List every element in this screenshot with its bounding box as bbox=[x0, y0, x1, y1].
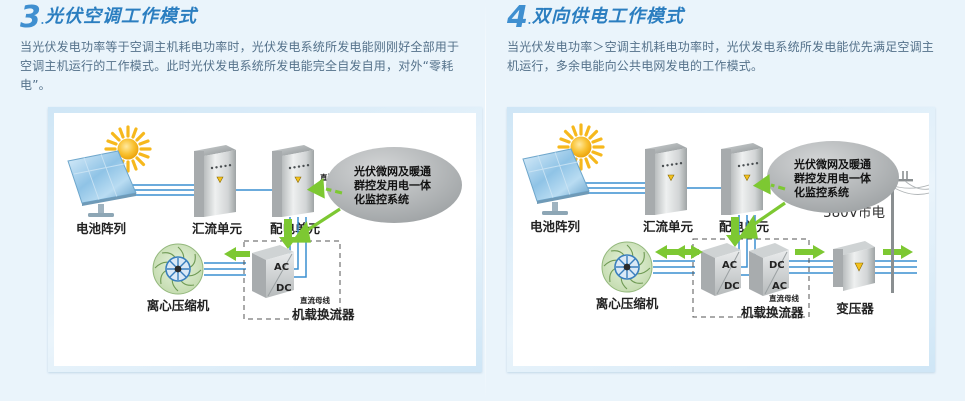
section-4-figure-canvas: 电池阵列 汇流单元 bbox=[513, 113, 929, 366]
label-distribution-unit: 配电单元 bbox=[270, 221, 321, 236]
compressor-fan-icon bbox=[153, 244, 203, 294]
section-3-figure-canvas: 电池阵列 汇流单元 bbox=[54, 113, 476, 366]
converter-label-dc: DC bbox=[276, 283, 292, 294]
inverter-label-dc: DC bbox=[769, 260, 785, 271]
label-pv-array: 电池阵列 bbox=[76, 221, 126, 236]
converter-label-dc: DC bbox=[724, 281, 740, 292]
section-4-title: 双向供电工作模式 bbox=[532, 2, 684, 28]
inverter-label-ac: AC bbox=[772, 281, 787, 292]
transformer-icon bbox=[833, 241, 875, 291]
compressor-fan-icon bbox=[602, 242, 652, 292]
label-compressor: 离心压缩机 bbox=[147, 298, 210, 313]
bus-pv-to-combiner bbox=[132, 185, 194, 195]
label-pv-array: 电池阵列 bbox=[530, 219, 580, 234]
bubble-line-1: 光伏微网及暖通 bbox=[353, 164, 431, 178]
section-3-number: 3 bbox=[20, 2, 40, 34]
label-converter: 机载换流器 bbox=[292, 307, 355, 322]
bubble-line-3: 化监控系统 bbox=[794, 185, 849, 199]
section-4-diagram: 电池阵列 汇流单元 bbox=[513, 113, 929, 366]
section-3-diagram: 电池阵列 汇流单元 bbox=[54, 113, 476, 366]
bus-pv-to-combiner bbox=[585, 183, 645, 193]
label-combiner-unit: 汇流单元 bbox=[643, 219, 694, 234]
cabinet-icon-combiner bbox=[645, 143, 687, 215]
column-divider bbox=[485, 0, 486, 401]
bubble-line-2: 群控发用电一体 bbox=[353, 178, 432, 192]
section-3: 3.光伏空调工作模式 当光伏发电功率等于空调主机耗电功率时，光伏发电系统所发电能… bbox=[10, 0, 480, 401]
section-3-figure-panel: 电池阵列 汇流单元 bbox=[48, 107, 482, 372]
page-root: 3.光伏空调工作模式 当光伏发电功率等于空调主机耗电功率时，光伏发电系统所发电能… bbox=[0, 0, 965, 401]
label-converter: 机载换流器 bbox=[741, 305, 804, 320]
cabinet-icon-combiner bbox=[194, 145, 236, 217]
section-4-heading: 4.双向供电工作模式 bbox=[497, 0, 955, 34]
cabinet-icon-distribution bbox=[721, 143, 763, 215]
arrow-icon-to-grid bbox=[883, 245, 913, 259]
solar-panel-icon bbox=[523, 149, 589, 215]
section-3-description: 当光伏发电功率等于空调主机耗电功率时，光伏发电系统所发电能刚刚好全部用于空调主机… bbox=[10, 34, 480, 95]
bubble-line-3: 化监控系统 bbox=[354, 192, 409, 206]
label-compressor: 离心压缩机 bbox=[596, 296, 659, 311]
label-combiner-unit: 汇流单元 bbox=[192, 221, 243, 236]
converter-label-ac: AC bbox=[274, 262, 289, 273]
label-transformer: 变压器 bbox=[836, 301, 874, 316]
bus-converter-to-compressor bbox=[653, 261, 695, 273]
bus-converter-to-compressor bbox=[204, 263, 246, 275]
arrow-icon-converter-to-inverter bbox=[795, 245, 825, 259]
section-4-description: 当光伏发电功率＞空调主机耗电功率时，光伏发电系统所发电能优先满足空调主机运行，多… bbox=[497, 34, 955, 76]
arrow-icon-bidirectional-converter bbox=[655, 245, 703, 259]
solar-panel-icon bbox=[68, 151, 136, 217]
label-dc-bus-bottom: 直流母线 bbox=[300, 295, 330, 305]
section-4-number: 4 bbox=[507, 2, 527, 34]
section-4-figure-panel: 电池阵列 汇流单元 bbox=[507, 107, 935, 372]
label-dc-bus-bottom: 直流母线 bbox=[769, 293, 799, 303]
section-4: 4.双向供电工作模式 当光伏发电功率＞空调主机耗电功率时，光伏发电系统所发电能优… bbox=[497, 0, 955, 401]
section-3-title: 光伏空调工作模式 bbox=[45, 2, 197, 28]
bubble-line-2: 群控发用电一体 bbox=[793, 171, 872, 185]
bubble-line-1: 光伏微网及暖通 bbox=[793, 157, 871, 171]
section-3-heading: 3.光伏空调工作模式 bbox=[10, 0, 480, 34]
arrow-icon-to-compressor bbox=[224, 247, 250, 261]
cabinet-icon-distribution bbox=[272, 145, 314, 217]
converter-label-ac: AC bbox=[722, 260, 737, 271]
